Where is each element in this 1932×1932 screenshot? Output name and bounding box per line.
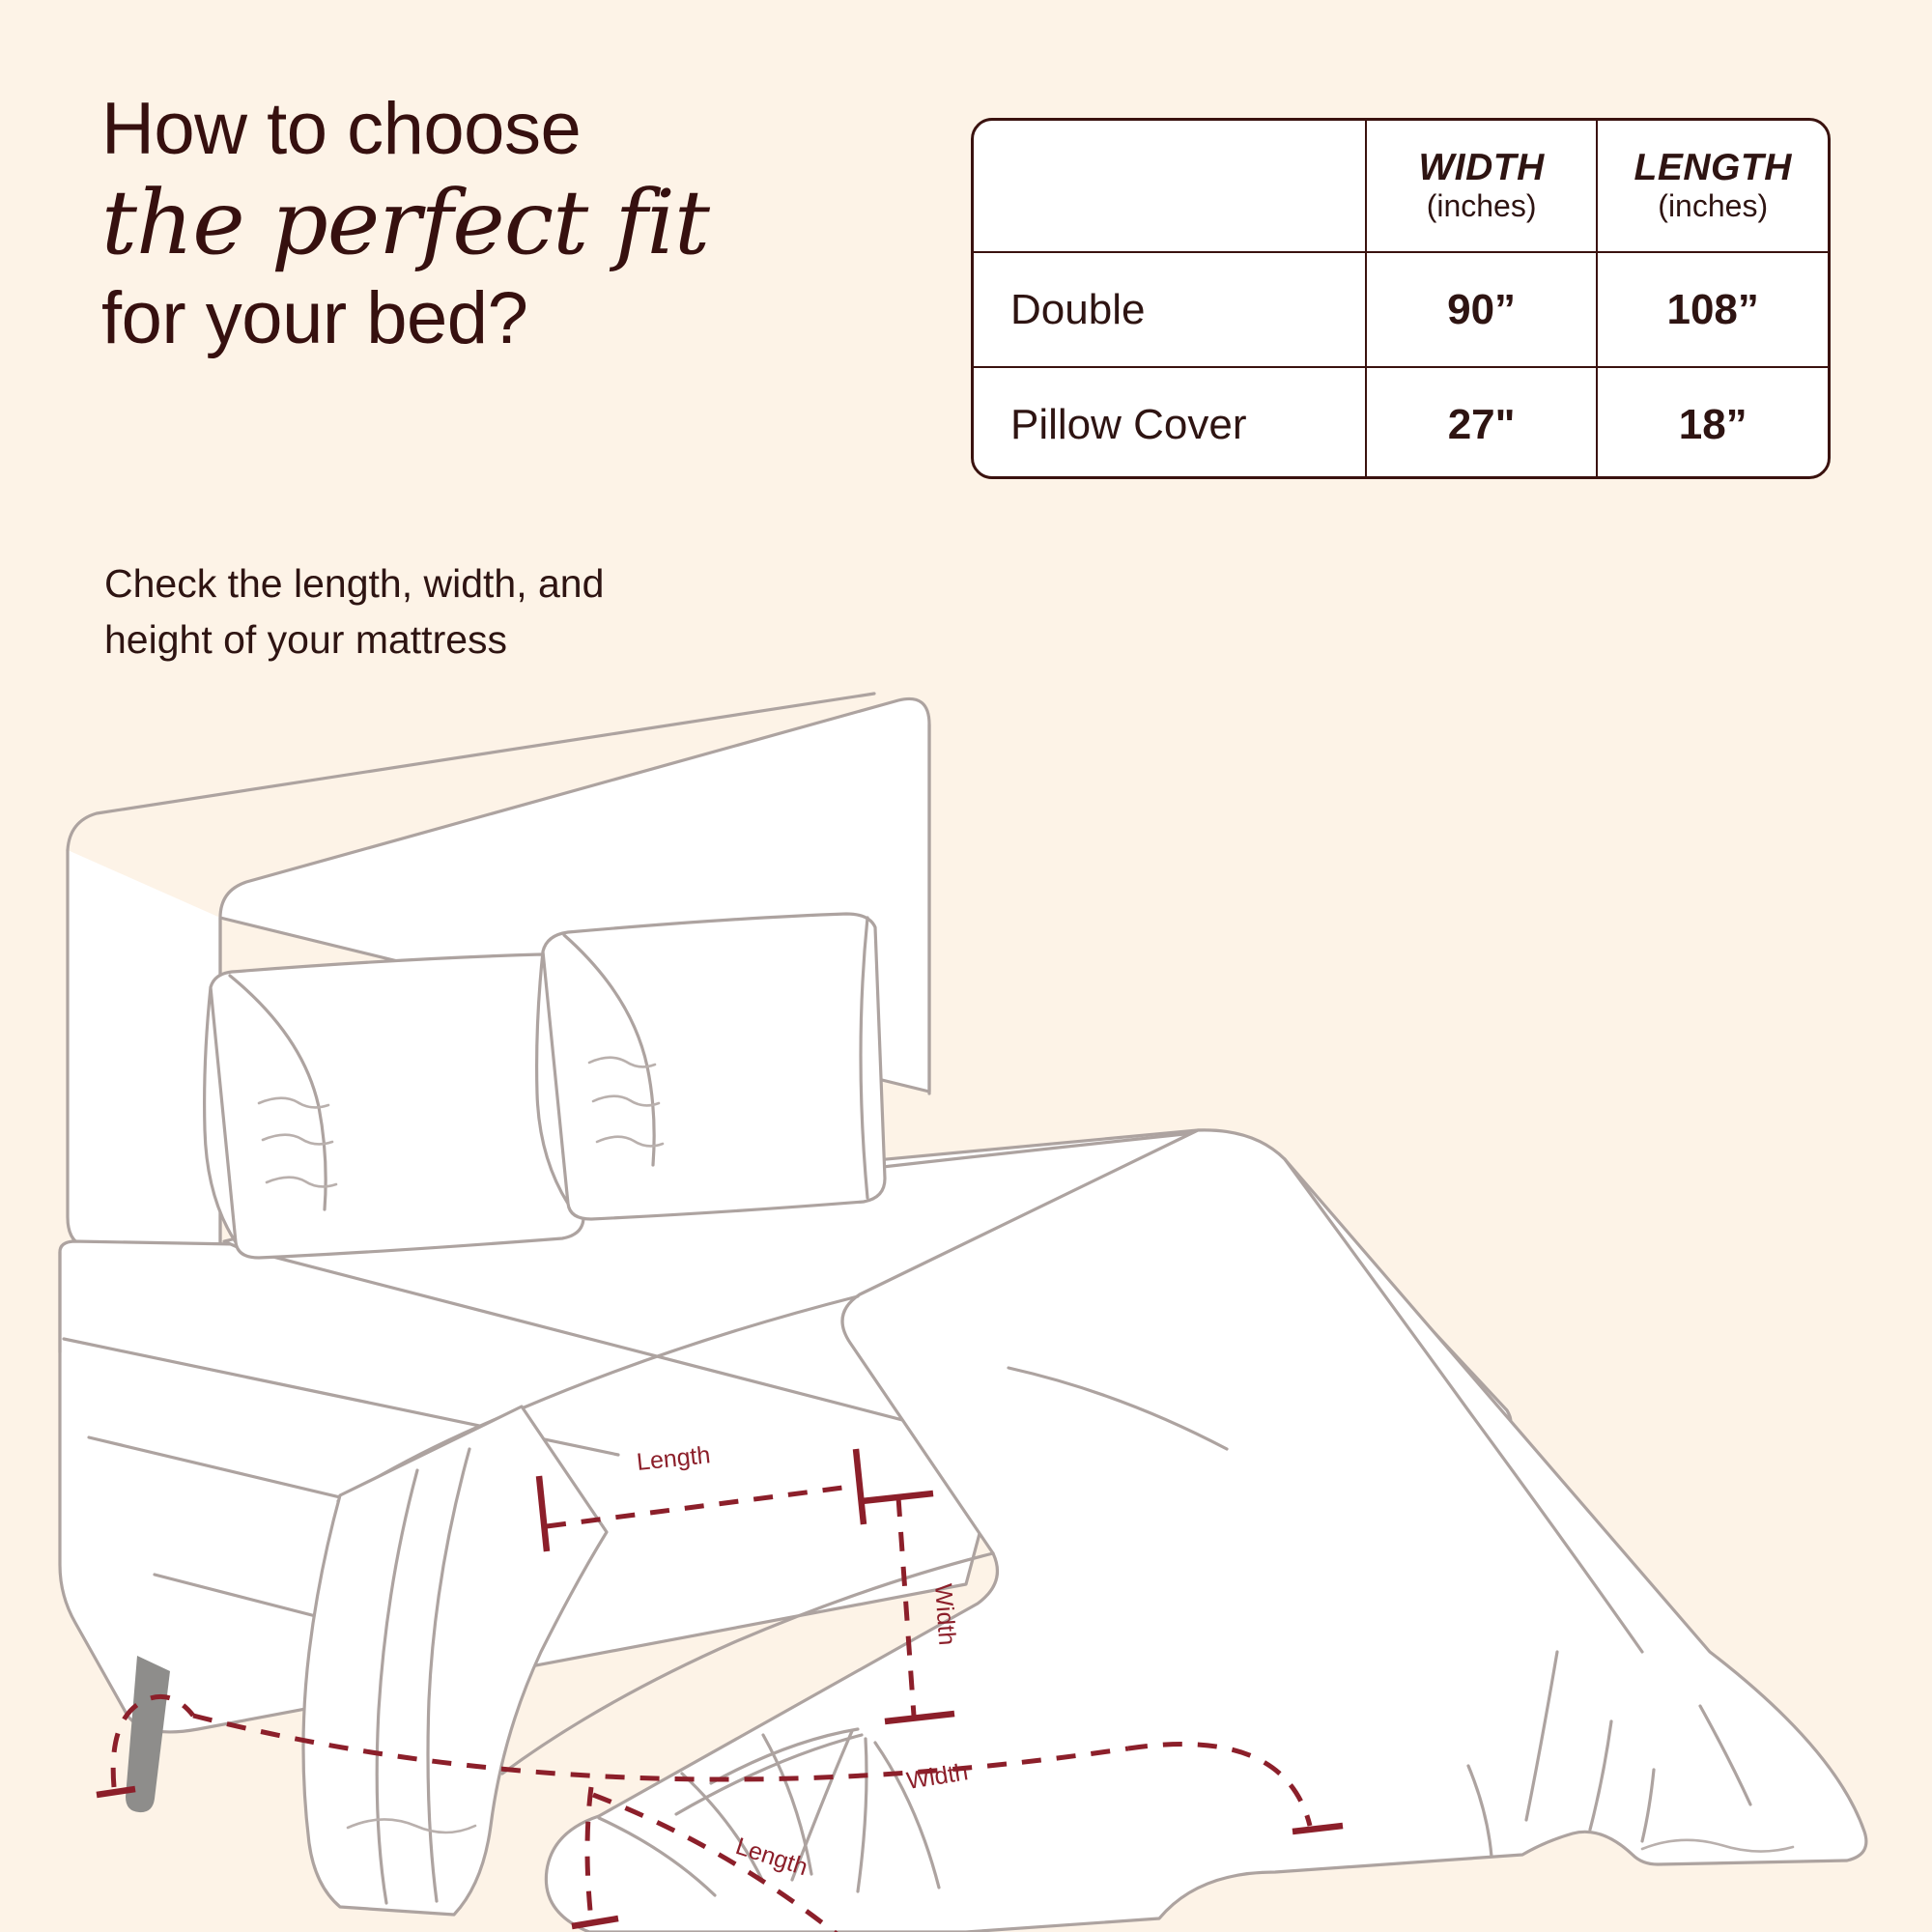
width-header-unit: (inches) — [1367, 188, 1597, 225]
bed-illustration: .ln { fill:none; stroke:#ada3a0; stroke-… — [0, 676, 1932, 1932]
row-pillow-length: 18” — [1597, 367, 1828, 479]
headline-line-2: the perfect fit — [101, 171, 932, 276]
headline-line-3: for your bed? — [101, 281, 932, 356]
subtitle: Check the length, width, and height of y… — [104, 555, 781, 668]
table-header-row: WIDTH (inches) LENGTH (inches) — [974, 121, 1828, 252]
size-chart-table: WIDTH (inches) LENGTH (inches) Double 90… — [971, 118, 1831, 479]
subtitle-line-2: height of your mattress — [104, 611, 781, 668]
table-header-length: LENGTH (inches) — [1597, 121, 1828, 252]
subtitle-line-1: Check the length, width, and — [104, 555, 781, 611]
length-header-label: LENGTH — [1598, 148, 1828, 188]
headline-line-1: How to choose — [101, 92, 932, 167]
table-header-blank — [974, 121, 1366, 252]
poster-canvas: How to choose the perfect fit for your b… — [0, 0, 1932, 1932]
row-label-double: Double — [974, 252, 1366, 367]
width-header-label: WIDTH — [1367, 148, 1597, 188]
row-label-pillow-cover: Pillow Cover — [974, 367, 1366, 479]
row-double-width: 90” — [1366, 252, 1598, 367]
length-header-unit: (inches) — [1598, 188, 1828, 225]
table-header-width: WIDTH (inches) — [1366, 121, 1598, 252]
pillow-left — [205, 954, 583, 1258]
table-row: Pillow Cover 27" 18” — [974, 367, 1828, 479]
row-double-length: 108” — [1597, 252, 1828, 367]
pillow-width-label: Width — [929, 1582, 960, 1646]
row-pillow-width: 27" — [1366, 367, 1598, 479]
table-row: Double 90” 108” — [974, 252, 1828, 367]
pillow-right — [537, 914, 885, 1219]
page-title: How to choose the perfect fit for your b… — [101, 92, 932, 356]
size-chart: WIDTH (inches) LENGTH (inches) Double 90… — [974, 121, 1828, 479]
